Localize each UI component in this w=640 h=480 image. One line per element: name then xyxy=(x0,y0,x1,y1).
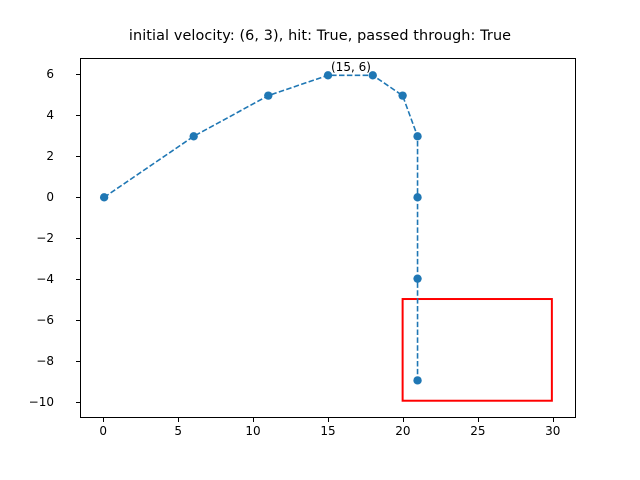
x-tick-label: 25 xyxy=(470,424,485,438)
target-shapes-layer xyxy=(403,299,552,401)
y-tick-mark xyxy=(76,238,80,239)
trajectory-marker-layer xyxy=(100,71,422,384)
x-tick-mark xyxy=(478,418,479,422)
data-point-marker xyxy=(413,376,421,384)
peak-annotation-label: (15, 6) xyxy=(331,60,371,74)
plot-axes xyxy=(80,58,576,418)
data-point-marker xyxy=(413,132,421,140)
x-tick-mark xyxy=(403,418,404,422)
x-tick-label: 15 xyxy=(320,424,335,438)
y-tick-mark xyxy=(76,361,80,362)
x-tick-label: 20 xyxy=(395,424,410,438)
y-tick-label: −10 xyxy=(29,395,54,409)
data-point-marker xyxy=(100,193,108,201)
x-tick-mark xyxy=(253,418,254,422)
y-tick-label: −2 xyxy=(36,231,54,245)
y-tick-mark xyxy=(76,156,80,157)
x-tick-label: 0 xyxy=(99,424,107,438)
data-point-marker xyxy=(398,91,406,99)
chart-title: initial velocity: (6, 3), hit: True, pas… xyxy=(0,28,640,44)
data-point-marker xyxy=(413,193,421,201)
y-tick-label: −8 xyxy=(36,354,54,368)
x-tick-mark xyxy=(178,418,179,422)
y-tick-label: 2 xyxy=(46,149,54,163)
y-tick-label: 0 xyxy=(46,190,54,204)
y-tick-label: 6 xyxy=(46,67,54,81)
x-tick-label: 5 xyxy=(174,424,182,438)
trajectory-line-layer xyxy=(104,75,417,380)
x-tick-mark xyxy=(328,418,329,422)
y-tick-label: −6 xyxy=(36,313,54,327)
y-tick-mark xyxy=(76,279,80,280)
data-point-marker xyxy=(190,132,198,140)
x-tick-mark xyxy=(553,418,554,422)
trajectory-line xyxy=(104,75,417,380)
y-tick-mark xyxy=(76,74,80,75)
x-tick-label: 30 xyxy=(545,424,560,438)
data-point-marker xyxy=(264,91,272,99)
y-tick-label: 4 xyxy=(46,108,54,122)
target-box xyxy=(403,299,552,401)
x-tick-mark xyxy=(103,418,104,422)
data-point-marker xyxy=(413,275,421,283)
y-tick-mark xyxy=(76,320,80,321)
y-tick-mark xyxy=(76,402,80,403)
plot-canvas xyxy=(81,59,575,417)
y-tick-label: −4 xyxy=(36,272,54,286)
y-tick-mark xyxy=(76,197,80,198)
x-tick-label: 10 xyxy=(245,424,260,438)
y-tick-mark xyxy=(76,115,80,116)
matplotlib-figure: initial velocity: (6, 3), hit: True, pas… xyxy=(0,0,640,480)
